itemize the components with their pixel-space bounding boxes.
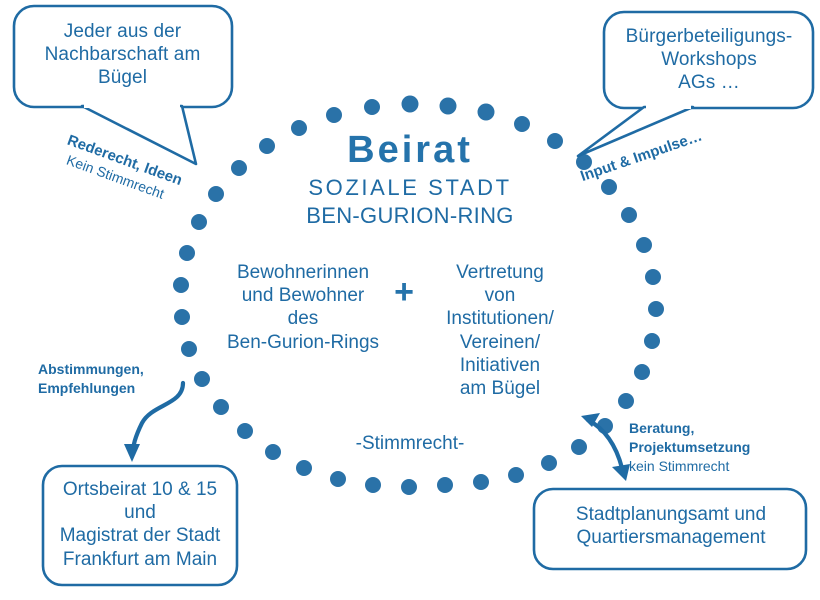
- ring-footer-stimmrecht: -Stimmrecht-: [305, 432, 515, 455]
- ring-subtitle-soziale-stadt: SOZIALE STADT: [260, 175, 560, 202]
- ring-column-institutions: Vertretung von Institutionen/ Vereinen/ …: [424, 261, 576, 400]
- connector-label-rederecht: Rederecht, Ideen Kein Stimmrecht: [52, 112, 192, 225]
- arrow-label-beratung: Beratung, Projektumsetzung kein Stimmrec…: [629, 400, 807, 494]
- arrow-label-abstimmungen: Abstimmungen, Empfehlungen: [38, 360, 188, 398]
- ring-column-residents: Bewohnerinnen und Bewohner des Ben-Gurio…: [213, 261, 393, 354]
- diagram-canvas: Jeder aus der Nachbarschaft am Bügel Bür…: [0, 0, 820, 600]
- ring-title-beirat: Beirat: [260, 127, 560, 173]
- bubble-top-right-text: Bürgerbeteiligungs- Workshops AGs …: [610, 25, 808, 95]
- box-bottom-right-text: Stadtplanungsamt und Quartiersmanagement: [543, 503, 799, 549]
- arrow-label-beratung-main: Beratung, Projektumsetzung: [629, 420, 750, 455]
- arrow-beratung-head-up: [581, 413, 600, 427]
- bubble-top-left-text: Jeder aus der Nachbarschaft am Bügel: [20, 20, 225, 90]
- connector-label-input: Input & Impulse…: [578, 126, 705, 186]
- arrow-label-beratung-sub: kein Stimmrecht: [629, 457, 807, 476]
- ring-subtitle-ben-gurion-ring: BEN-GURION-RING: [260, 203, 560, 230]
- arrow-beratung-head-down: [612, 464, 630, 481]
- plus-icon: +: [384, 275, 424, 309]
- arrow-beratung: [581, 413, 630, 481]
- arrow-beratung-shaft: [588, 420, 622, 468]
- box-bottom-left-text: Ortsbeirat 10 & 15 und Magistrat der Sta…: [47, 478, 233, 571]
- arrow-abstimmungen-head: [124, 444, 140, 462]
